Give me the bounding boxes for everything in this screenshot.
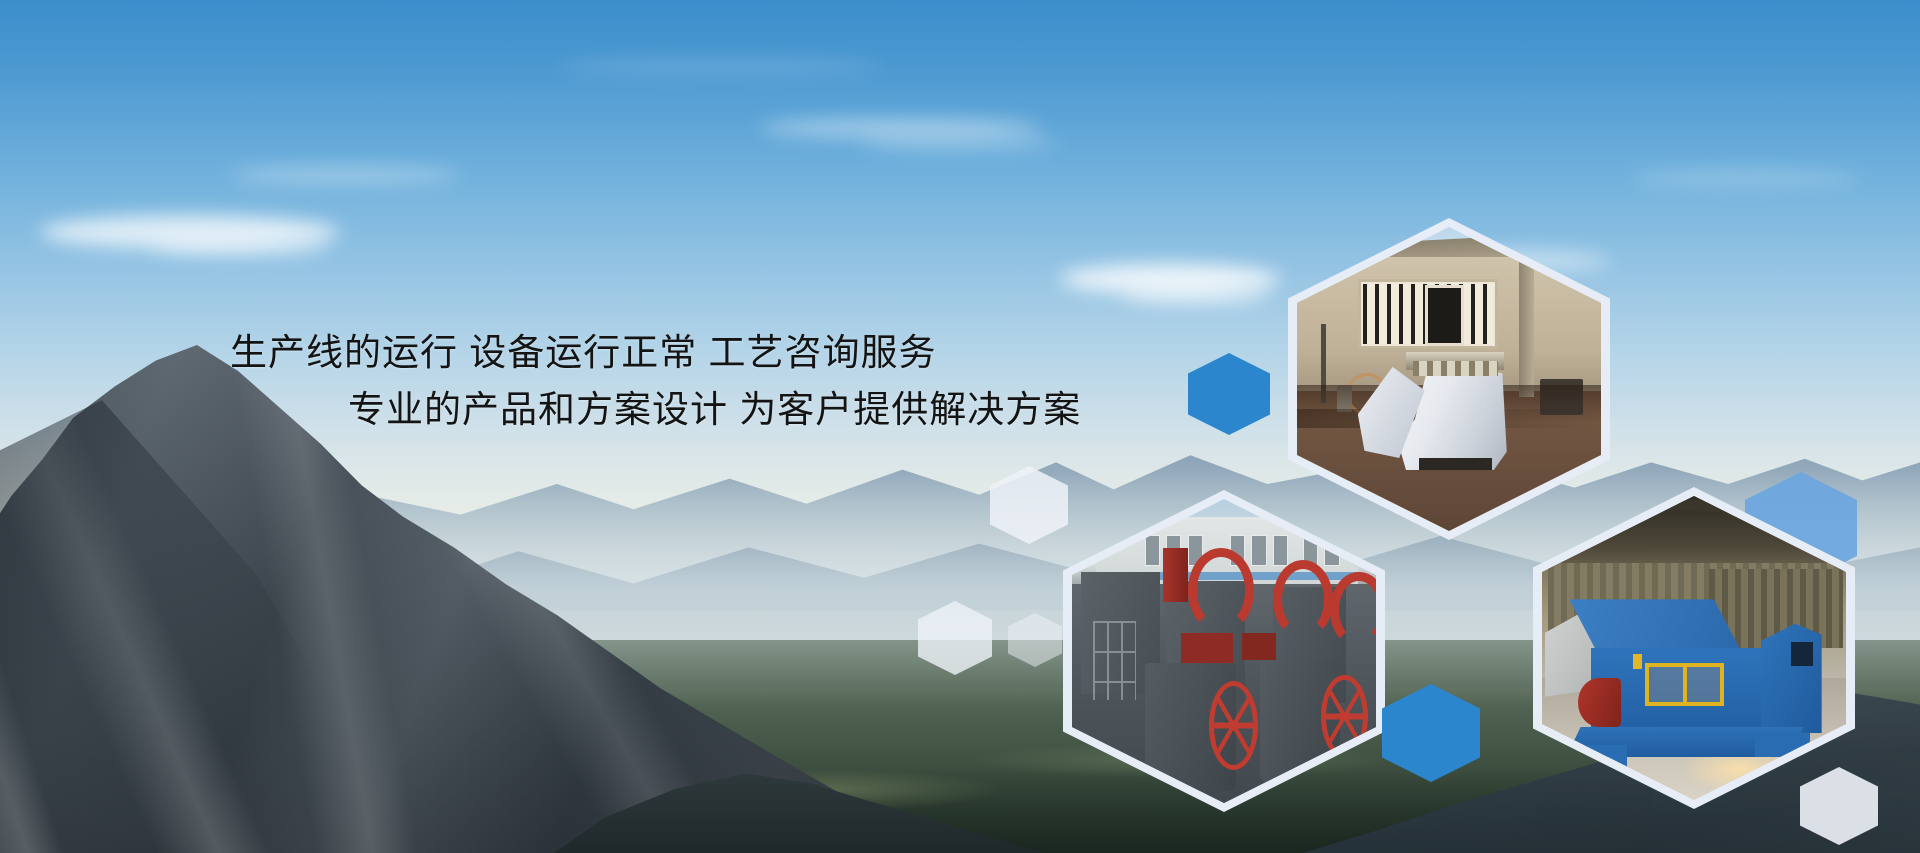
cloud-shape	[560, 60, 880, 74]
handwheel-spokes	[1214, 686, 1254, 765]
window-opening	[1425, 285, 1465, 346]
red-pipe-arc	[1330, 572, 1376, 648]
cloud-shape	[230, 166, 460, 184]
wall-edge	[1519, 245, 1534, 397]
yellow-marker	[1633, 654, 1642, 669]
red-column	[1163, 548, 1187, 603]
factory-window	[1273, 535, 1288, 565]
red-pipe-arc	[1273, 560, 1334, 639]
cloud-shape	[760, 118, 1040, 138]
shredder-cabinet	[1761, 624, 1822, 733]
cloud-shape	[860, 136, 1060, 150]
cloud-shape	[150, 236, 330, 256]
flange-bolts	[1413, 361, 1498, 376]
red-motor	[1578, 678, 1621, 727]
safety-railing	[1093, 621, 1136, 700]
hex-photo-right-image	[1542, 496, 1846, 800]
yellow-guard-rail	[1645, 663, 1724, 706]
machine-skid	[1755, 733, 1810, 757]
red-panel	[1181, 633, 1233, 663]
cloud-shape	[1120, 286, 1270, 304]
headline-line-1: 生产线的运行 设备运行正常 工艺咨询服务	[0, 324, 1160, 381]
headline-block: 生产线的运行 设备运行正常 工艺咨询服务 专业的产品和方案设计 为客户提供解决方…	[0, 324, 1160, 439]
factory-window	[1145, 535, 1160, 565]
machine-feet	[1419, 458, 1492, 470]
factory-window	[1251, 535, 1266, 565]
cloud-shape	[1630, 170, 1860, 186]
headline-line-2: 专业的产品和方案设计 为客户提供解决方案	[0, 381, 1160, 438]
red-pipe-arc	[1188, 548, 1255, 633]
cabinet-window	[1791, 642, 1812, 666]
hero-banner: 生产线的运行 设备运行正常 工艺咨询服务 专业的产品和方案设计 为客户提供解决方…	[0, 0, 1920, 853]
red-panel	[1242, 633, 1275, 660]
handwheel-spokes	[1326, 680, 1362, 753]
hex-photo-left-image	[1072, 499, 1376, 803]
hex-photo-top-image	[1297, 227, 1601, 531]
